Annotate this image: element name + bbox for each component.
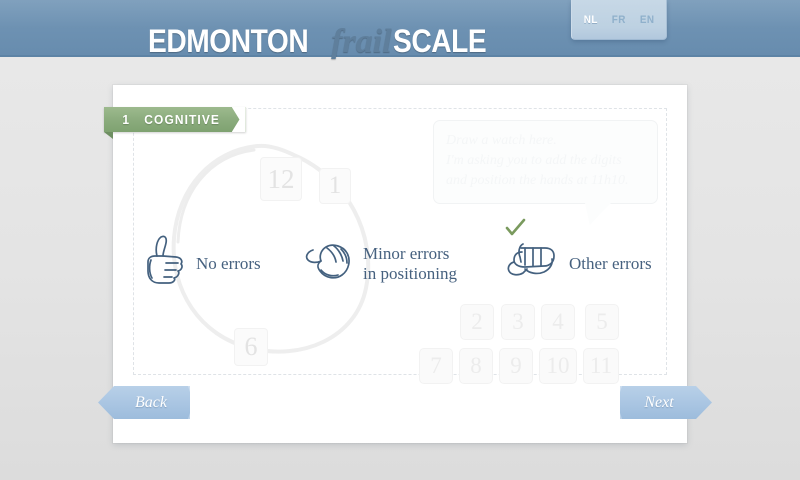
app-header: EDMONTONfrailSCALE [0,0,800,57]
thumbs-side-icon [303,232,355,295]
language-option-fr[interactable]: FR [611,13,627,27]
digit-tile-10[interactable]: 10 [539,348,577,384]
placed-digit-tile-6[interactable]: 6 [234,328,268,366]
logo-word-scale: SCALE [393,24,486,58]
digit-tile-5[interactable]: 5 [585,304,619,340]
digit-tile-3[interactable]: 3 [501,304,535,340]
thumbs-down-icon [505,236,561,291]
thumbs-up-icon [140,232,188,295]
instruction-bubble: Draw a watch here. I'm asking you to add… [433,120,658,204]
section-number: 1 [122,112,130,127]
option-label-other-errors: Other errors [569,254,652,274]
digit-tray: 2 3 4 5 7 8 9 10 11 [413,300,633,388]
ribbon-fold [104,132,113,139]
digit-tile-8[interactable]: 8 [459,348,493,384]
language-option-nl[interactable]: NL [583,13,599,27]
option-minor-errors[interactable]: Minor errors in positioning [303,232,457,295]
language-option-en[interactable]: EN [638,13,654,27]
digit-tile-9[interactable]: 9 [499,348,533,384]
next-button[interactable]: Next [620,386,712,419]
digit-tile-4[interactable]: 4 [541,304,575,340]
digit-tile-7[interactable]: 7 [419,348,453,384]
back-button[interactable]: Back [98,386,190,419]
option-label-minor-errors: Minor errors in positioning [363,244,457,284]
next-button-label: Next [644,394,673,412]
option-no-errors[interactable]: No errors [140,232,261,295]
digit-tile-11[interactable]: 11 [583,348,619,384]
placed-digit-tile-12[interactable]: 12 [260,157,302,201]
digit-tile-2[interactable]: 2 [460,304,494,340]
language-selector[interactable]: NL FR EN [571,0,667,40]
app-logo: EDMONTONfrailSCALE [148,24,498,58]
option-other-errors[interactable]: Other errors [505,236,652,291]
instruction-text: Draw a watch here. I'm asking you to add… [446,131,649,191]
logo-word-frail: frail [331,23,391,60]
section-ribbon: 1 COGNITIVE [104,107,246,132]
option-label-no-errors: No errors [196,254,261,274]
section-label: COGNITIVE [145,112,221,127]
selected-check-icon [505,218,527,238]
logo-word-edmonton: EDMONTON [148,24,308,58]
placed-digit-tile-1[interactable]: 1 [319,168,351,204]
back-button-label: Back [135,394,167,412]
